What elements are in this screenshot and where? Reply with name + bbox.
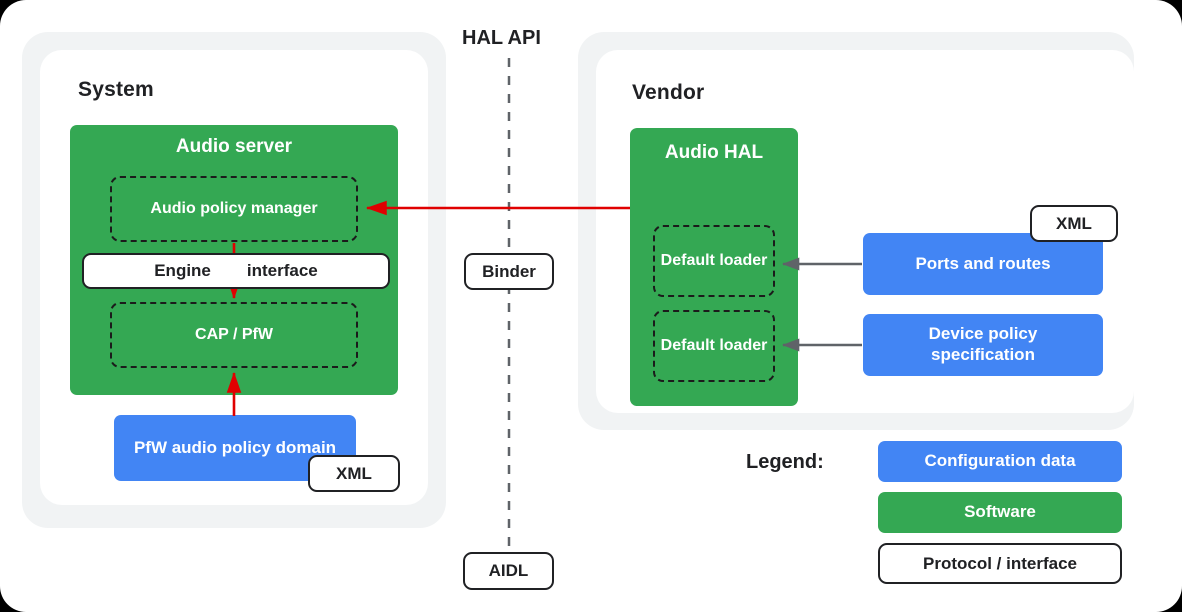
system-group-title: System bbox=[78, 78, 154, 102]
diagram-root: System Audio server Audio policy manager… bbox=[0, 0, 1182, 612]
audio-hal-default-loader-2[interactable]: Default loader bbox=[653, 310, 775, 382]
ports-and-routes-xml-badge[interactable]: XML bbox=[1030, 205, 1118, 242]
binder-badge[interactable]: Binder bbox=[464, 253, 554, 290]
device-policy-specification-block[interactable]: Device policy specification bbox=[863, 314, 1103, 376]
legend-item-configuration-data[interactable]: Configuration data bbox=[878, 441, 1122, 482]
audio-hal-heading: Audio HAL bbox=[630, 142, 798, 164]
audio-policy-manager-block[interactable]: Audio policy manager bbox=[110, 176, 358, 242]
legend-label: Legend: bbox=[746, 451, 824, 474]
engine-interface-pill[interactable]: Engine interface bbox=[82, 253, 390, 289]
audio-server-heading: Audio server bbox=[70, 136, 398, 158]
ports-and-routes-block[interactable]: Ports and routes bbox=[863, 233, 1103, 295]
vendor-group-title: Vendor bbox=[632, 81, 704, 105]
engine-interface-label-right: interface bbox=[245, 261, 318, 281]
pfw-xml-badge[interactable]: XML bbox=[308, 455, 400, 492]
hal-api-label: HAL API bbox=[462, 27, 541, 50]
legend-item-protocol-interface[interactable]: Protocol / interface bbox=[878, 543, 1122, 584]
audio-hal-default-loader-1[interactable]: Default loader bbox=[653, 225, 775, 297]
engine-interface-label-left: Engine bbox=[154, 261, 245, 281]
legend-item-software[interactable]: Software bbox=[878, 492, 1122, 533]
cap-pfw-block[interactable]: CAP / PfW bbox=[110, 302, 358, 368]
aidl-badge[interactable]: AIDL bbox=[463, 552, 554, 590]
